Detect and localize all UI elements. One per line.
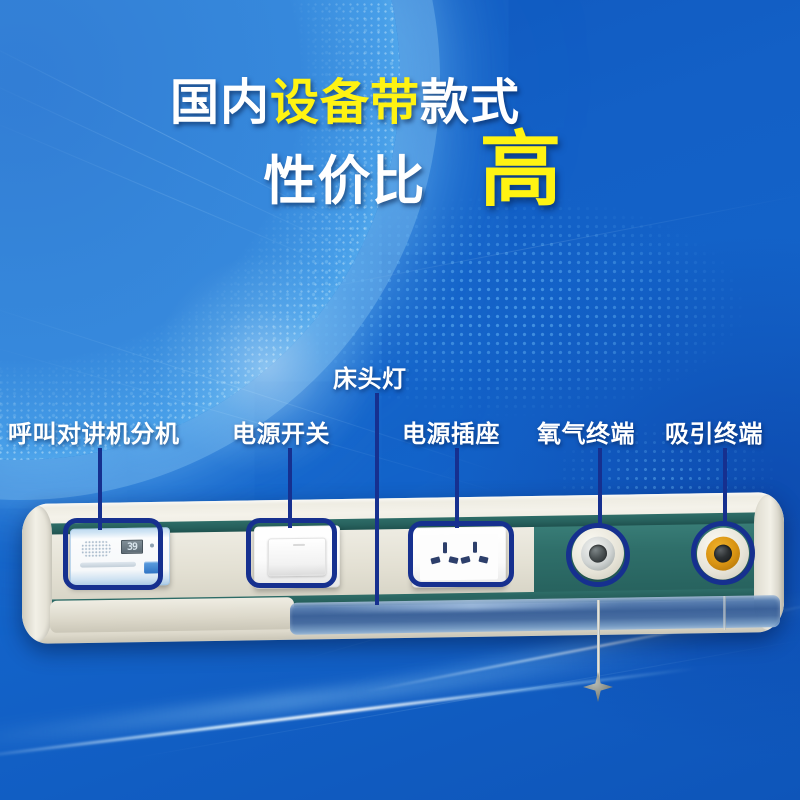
- callout-label-intercom: 呼叫对讲机分机: [8, 414, 180, 449]
- leader-line-power-switch: [288, 448, 292, 528]
- leader-line-oxygen-terminal: [598, 448, 602, 526]
- callout-label-suction-terminal: 吸引终端: [665, 414, 763, 449]
- callout-label-oxygen-terminal: 氧气终端: [537, 414, 635, 449]
- leader-line-intercom: [98, 448, 102, 530]
- leader-line-power-socket: [455, 448, 459, 528]
- leader-line-suction-terminal: [723, 448, 727, 524]
- callout-label-power-switch: 电源开关: [232, 414, 330, 449]
- callout-label-power-socket: 电源插座: [402, 414, 500, 449]
- poster-canvas: 国内 设备带 款式 性价比 高 39: [0, 0, 800, 800]
- leader-line-bed-lamp: [375, 393, 379, 605]
- callout-layer: 呼叫对讲机分机 电源开关 床头灯 电源插座 氧气终端 吸引终端: [0, 0, 800, 800]
- callout-label-bed-lamp: 床头灯: [333, 359, 407, 394]
